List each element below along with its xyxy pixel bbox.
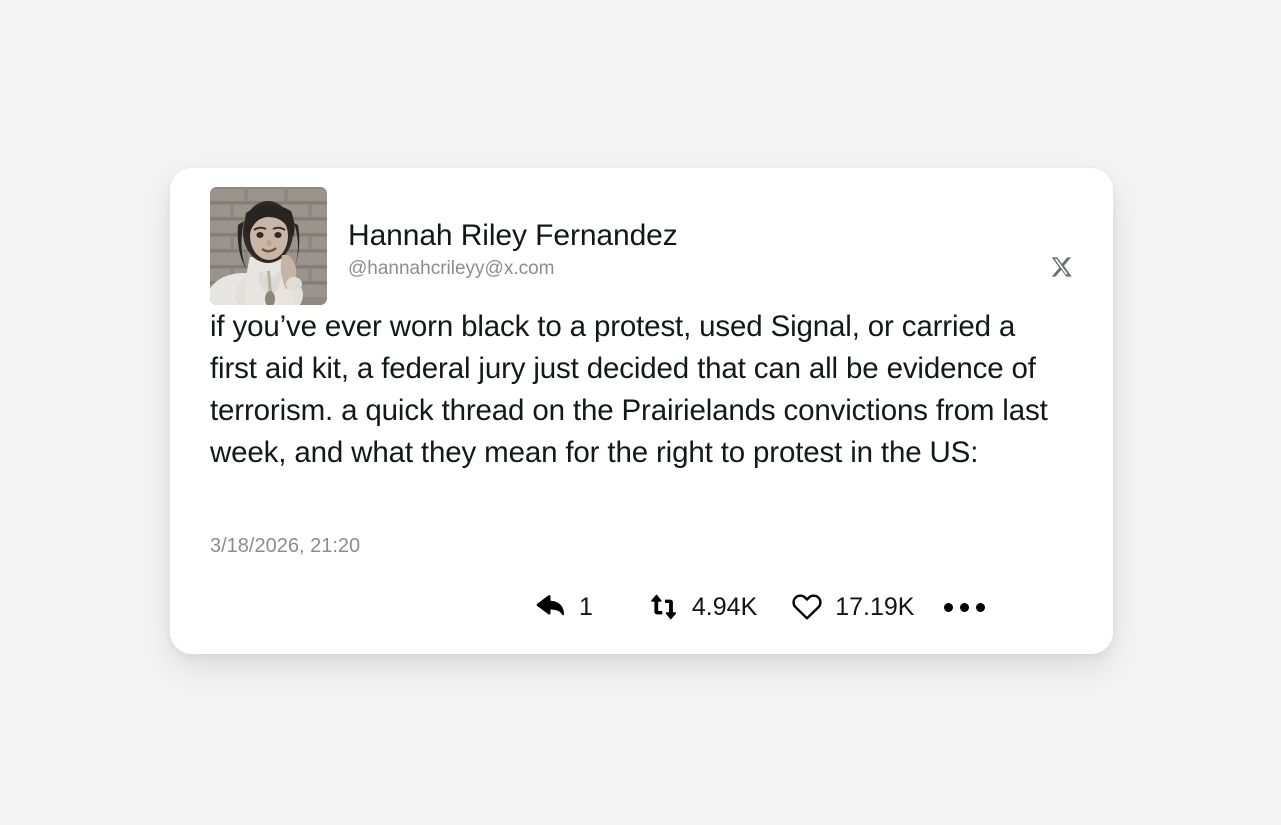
more-dot bbox=[944, 603, 953, 612]
heart-outline-icon bbox=[791, 591, 823, 623]
more-horizontal-icon[interactable] bbox=[944, 586, 985, 628]
author-identity: Hannah Riley Fernandez @hannahcrileyy@x.… bbox=[348, 218, 908, 281]
retweet-count: 4.94K bbox=[692, 593, 757, 621]
more-dot bbox=[960, 603, 969, 612]
like-action[interactable]: 17.19K bbox=[791, 586, 914, 628]
author-handle[interactable]: @hannahcrileyy@x.com bbox=[348, 257, 908, 281]
tweet-header: Hannah Riley Fernandez @hannahcrileyy@x.… bbox=[210, 187, 1073, 305]
reply-action[interactable]: 1 bbox=[535, 586, 593, 628]
retweet-action[interactable]: 4.94K bbox=[648, 586, 757, 628]
tweet-text: if you’ve ever worn black to a protest, … bbox=[210, 306, 1060, 474]
reply-count: 1 bbox=[579, 593, 593, 621]
avatar[interactable] bbox=[210, 187, 327, 305]
reply-arrow-icon bbox=[535, 591, 567, 623]
more-dot bbox=[976, 603, 985, 612]
like-count: 17.19K bbox=[835, 593, 914, 621]
tweet-card: Hannah Riley Fernandez @hannahcrileyy@x.… bbox=[170, 168, 1113, 654]
author-display-name[interactable]: Hannah Riley Fernandez bbox=[348, 218, 908, 254]
retweet-icon bbox=[648, 591, 680, 623]
x-logo-icon bbox=[1049, 255, 1075, 281]
page-background: Hannah Riley Fernandez @hannahcrileyy@x.… bbox=[0, 0, 1281, 825]
tweet-timestamp: 3/18/2026, 21:20 bbox=[210, 534, 360, 558]
tweet-action-bar: 1 4.94K 17.19K bbox=[535, 586, 1055, 628]
